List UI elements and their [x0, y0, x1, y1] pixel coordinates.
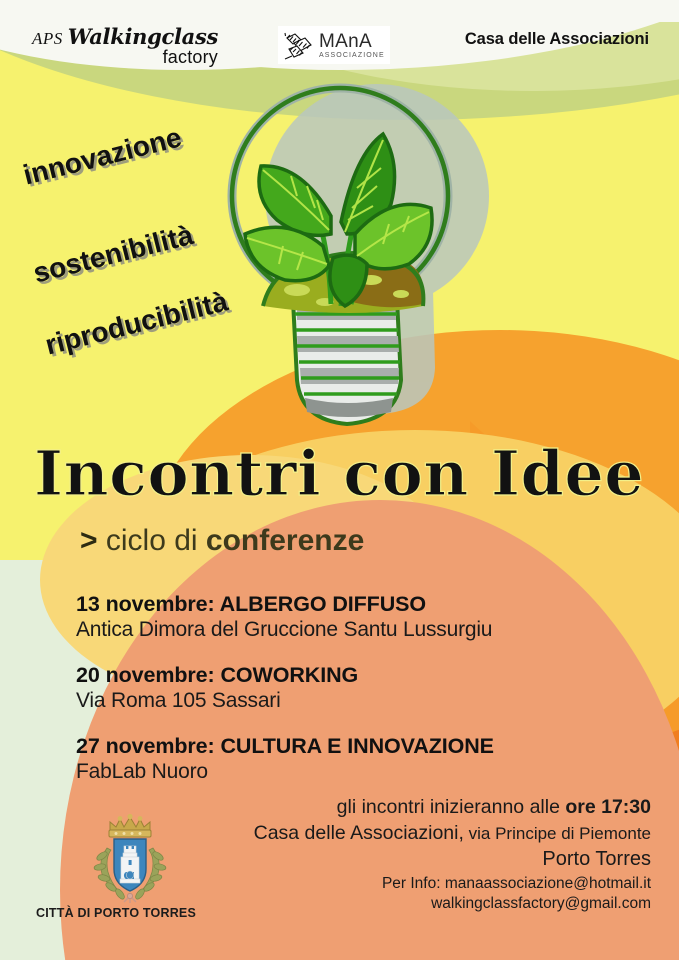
city-emblem-block: CITTÀ DI PORTO TORRES: [60, 812, 200, 920]
info-start-line: gli incontri inizieranno alle ore 17:30: [254, 796, 651, 820]
event-location: FabLab Nuoro: [76, 760, 636, 784]
city-emblem-label: CITTÀ DI PORTO TORRES: [32, 906, 200, 920]
info-venue-city: Porto Torres: [254, 847, 651, 871]
event-location: Antica Dimora del Gruccione Santu Lussur…: [76, 618, 636, 642]
poster-header: APS Walkingclass factory MAnA: [0, 0, 679, 80]
event-heading: 20 novembre: COWORKING: [76, 663, 636, 688]
logo-aps-text: APS: [32, 29, 63, 49]
lightbulb-with-plant-icon: [205, 68, 505, 438]
info-email-2: walkingclassfactory@gmail.com: [254, 894, 651, 914]
page-title: Incontri con Idee: [34, 437, 644, 510]
subtitle-marker: >: [80, 524, 98, 557]
logo-walkingclass-factory: APS Walkingclass factory: [32, 24, 222, 70]
subtitle-light: ciclo di: [106, 524, 206, 557]
event-item: 13 novembre: ALBERGO DIFFUSO Antica Dimo…: [76, 592, 636, 642]
event-item: 27 novembre: CULTURA E INNOVAZIONE FabLa…: [76, 734, 636, 784]
info-contact-label: Per Info:: [382, 875, 445, 892]
info-venue-name: Casa delle Associazioni,: [254, 822, 464, 844]
info-block: gli incontri inizieranno alle ore 17:30 …: [254, 796, 651, 914]
poster-canvas: innovazione sostenibilità riproducibilit…: [0, 0, 679, 960]
porto-torres-coat-of-arms: [90, 812, 170, 904]
logo-walkingclass-text: Walkingclass: [68, 24, 218, 49]
events-list: 13 novembre: ALBERGO DIFFUSO Antica Dimo…: [76, 592, 636, 805]
event-heading: 13 novembre: ALBERGO DIFFUSO: [76, 592, 636, 617]
event-heading: 27 novembre: CULTURA E INNOVAZIONE: [76, 734, 636, 759]
logo-factory-text: factory: [32, 47, 222, 68]
logo-mana: MAnA ASSOCIAZIONE: [278, 26, 390, 64]
event-item: 20 novembre: COWORKING Via Roma 105 Sass…: [76, 663, 636, 713]
logo-mana-name: MAnA: [319, 32, 385, 51]
info-venue-line: Casa delle Associazioni, via Principe di…: [254, 822, 651, 846]
subtitle-bold: conferenze: [206, 524, 364, 557]
logo-mana-subtitle: ASSOCIAZIONE: [319, 52, 385, 59]
event-location: Via Roma 105 Sassari: [76, 689, 636, 713]
info-start-prefix: gli incontri inizieranno alle: [337, 796, 566, 818]
header-venue-label: Casa delle Associazioni: [465, 30, 649, 49]
shield-icon: [114, 839, 146, 891]
info-start-time: ore 17:30: [565, 796, 651, 818]
sketch-hand-drawing-icon: [281, 29, 315, 61]
subtitle: > ciclo di conferenze: [80, 524, 364, 558]
crown-icon: [109, 814, 151, 837]
info-email-1: manaassociazione@hotmail.it: [445, 875, 651, 892]
info-venue-street: via Principe di Piemonte: [464, 824, 651, 843]
info-contact-line-1: Per Info: manaassociazione@hotmail.it: [254, 874, 651, 894]
